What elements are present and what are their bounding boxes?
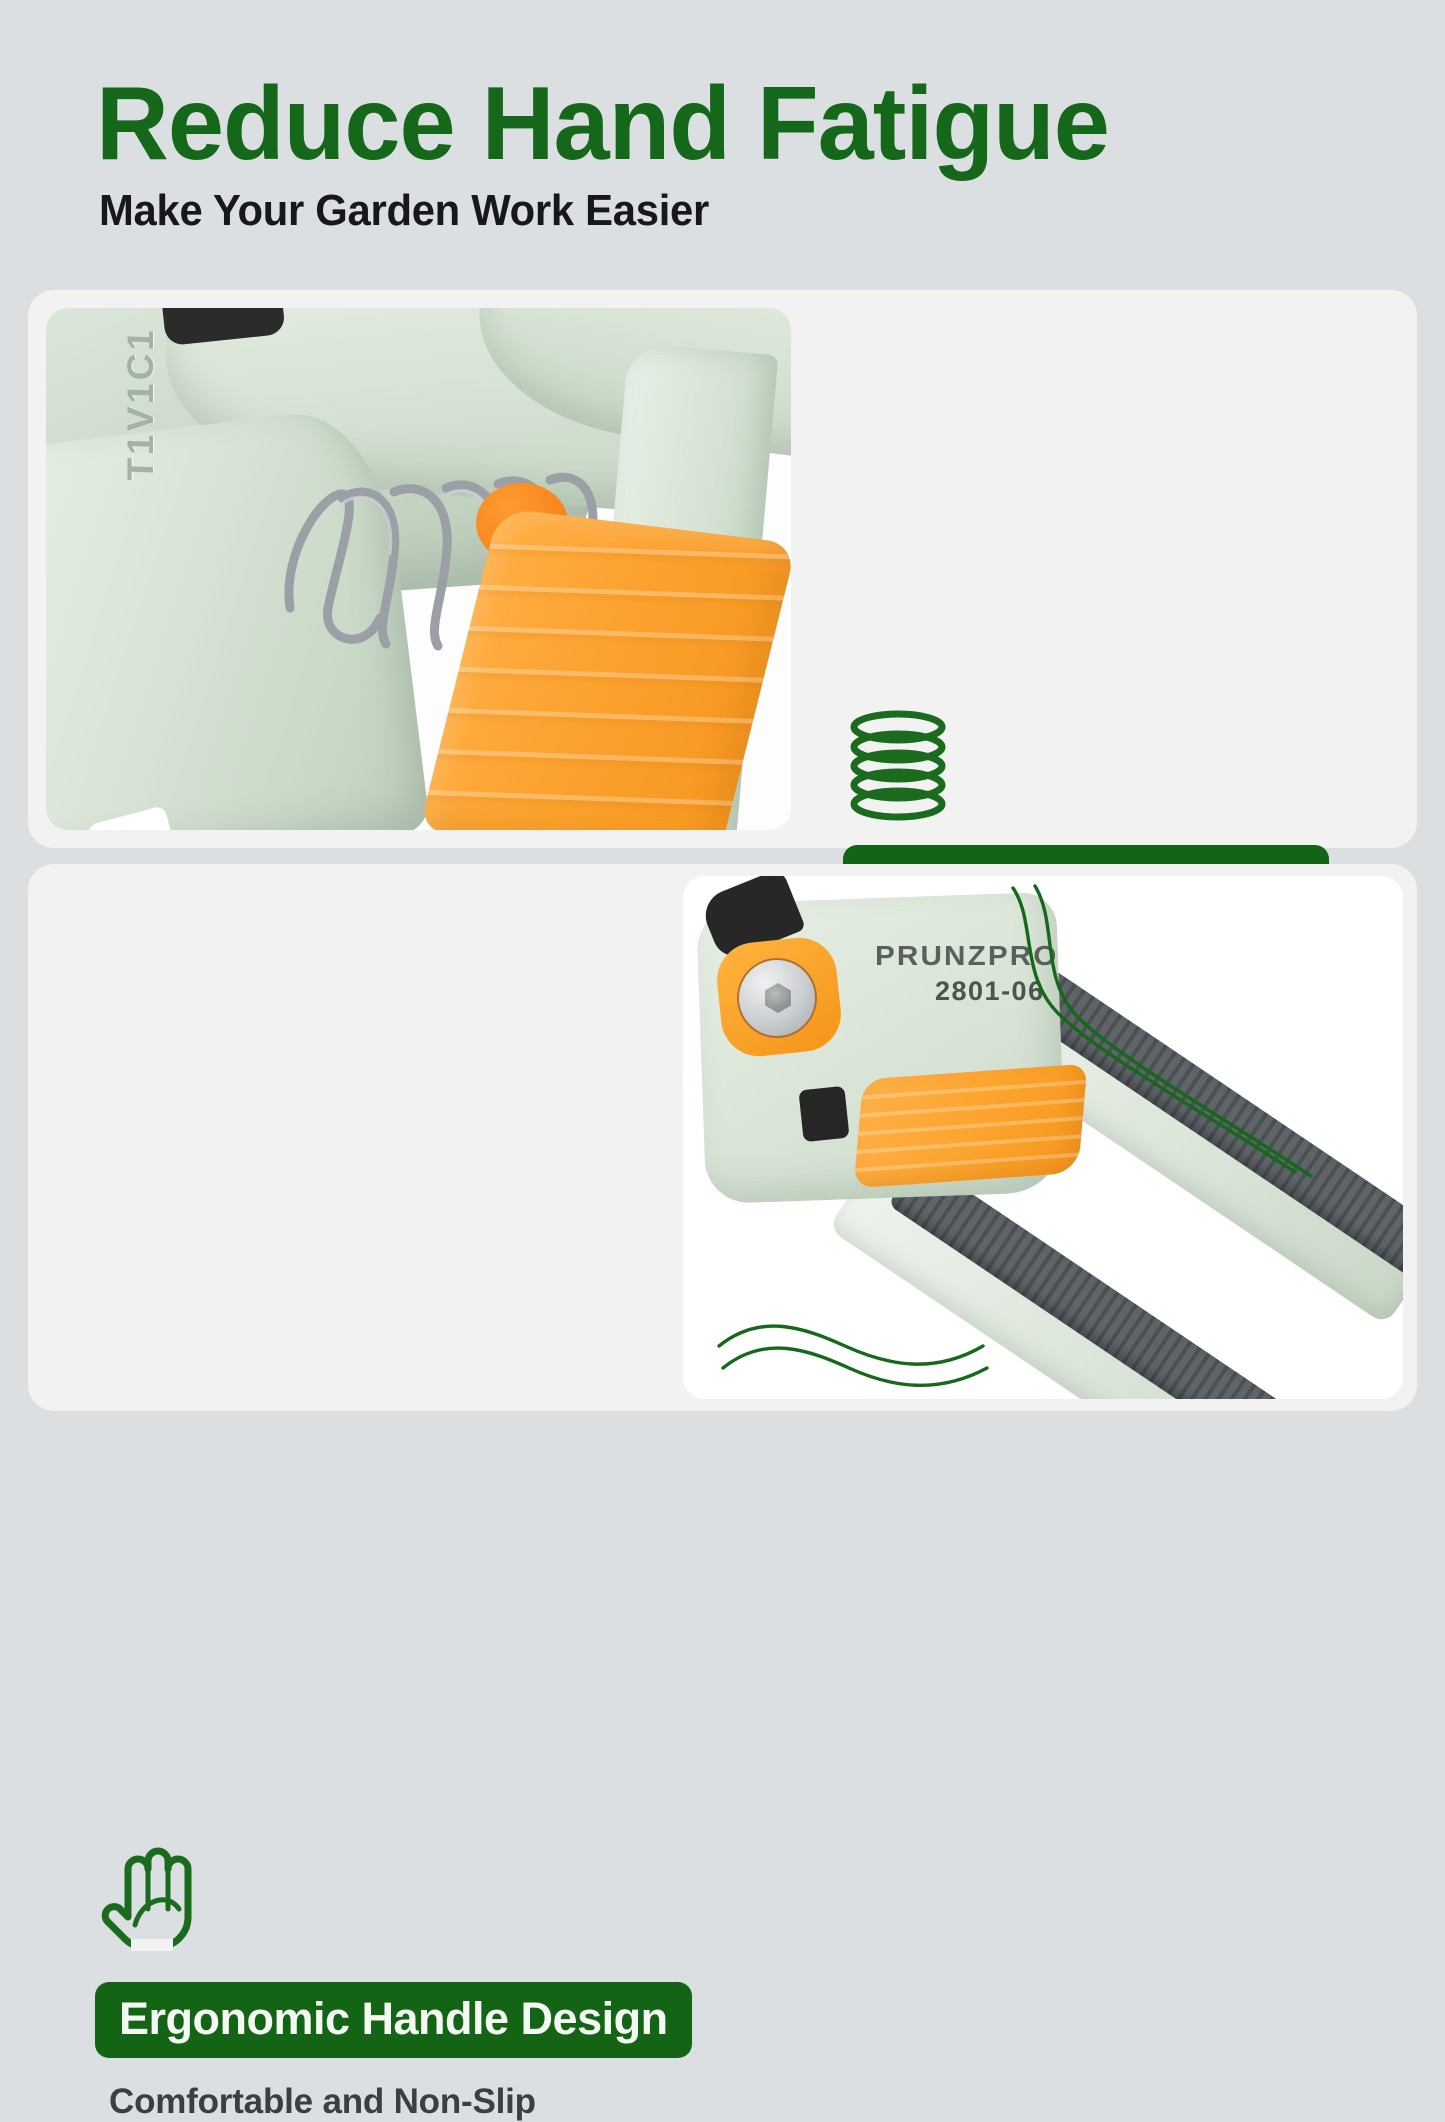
feature-subtitle-handle: Comfortable and Non-Slip (109, 2082, 695, 2122)
handle-emboss-text: T1V1C1 (120, 326, 162, 481)
open-hand-icon (95, 1839, 203, 1954)
feature-card-handle: Ergonomic Handle Design Comfortable and … (28, 864, 1417, 1411)
pruner-handle-photo: PRUNZPRO 2801-06 (683, 876, 1403, 1399)
jaw-notch (87, 805, 176, 830)
page-subtitle: Make Your Garden Work Easier (99, 186, 709, 236)
feature-block-handle: Ergonomic Handle Design Comfortable and … (95, 1839, 695, 2122)
header: Reduce Hand Fatigue Make Your Garden Wor… (0, 0, 1445, 280)
spring-closeup-photo: T1V1C1 (46, 308, 791, 830)
motion-accent-lines (683, 876, 1403, 1399)
feature-card-spring: T1V1C1 (28, 290, 1417, 848)
page-title: Reduce Hand Fatigue (96, 72, 1109, 176)
spring-coil-icon (843, 708, 953, 823)
badge-ergonomic-handle-design: Ergonomic Handle Design (95, 1982, 692, 2058)
